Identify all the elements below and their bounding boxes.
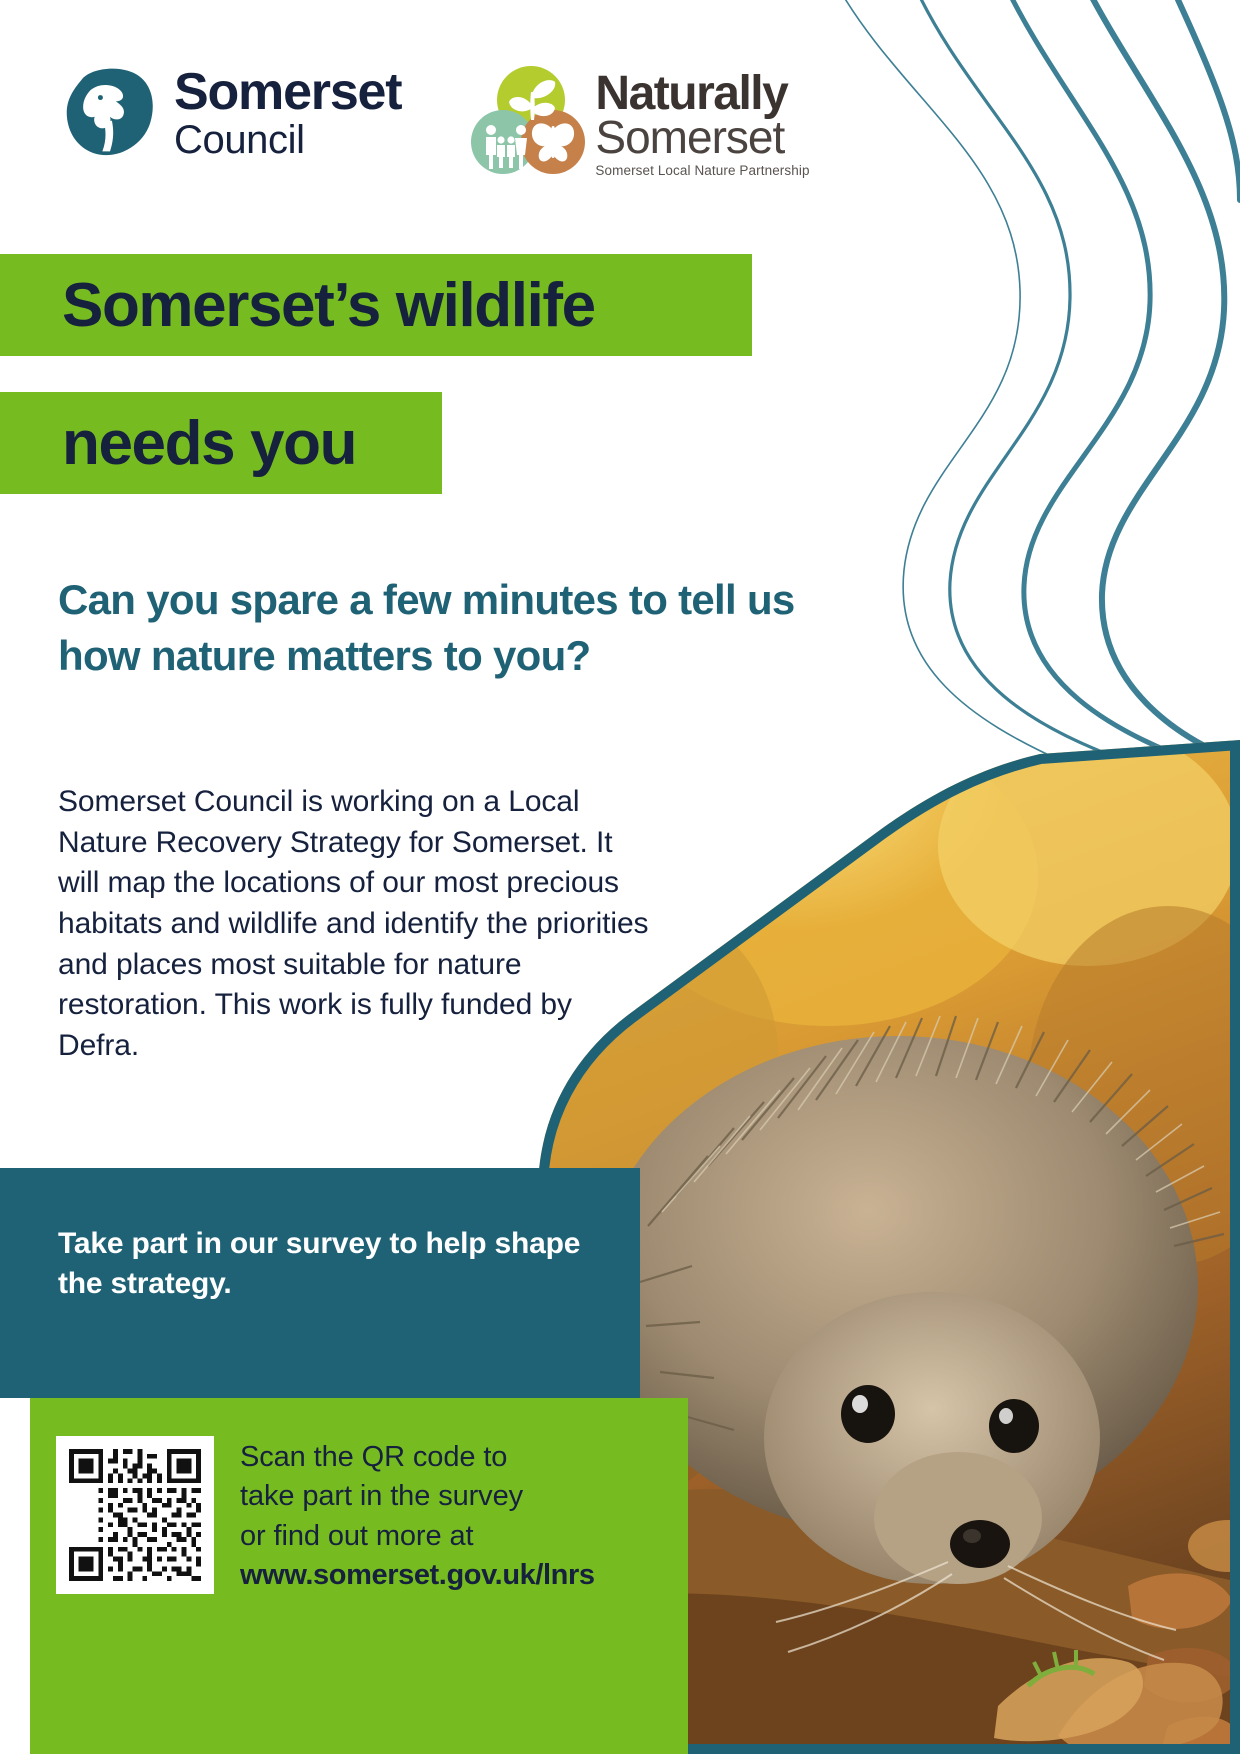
somerset-dragon-icon	[62, 63, 158, 159]
naturally-somerset-logo: Naturally Somerset Somerset Local Nature…	[469, 62, 809, 178]
headline-bar-2: needs you	[0, 392, 442, 494]
headline-line-2: needs you	[0, 408, 356, 479]
qr-instructions: Scan the QR code to take part in the sur…	[240, 1436, 595, 1596]
survey-call-to-action-band: Take part in our survey to help shape th…	[0, 1168, 640, 1398]
logo-row: Somerset Council	[62, 62, 810, 178]
headline-line-1: Somerset’s wildlife	[0, 270, 595, 341]
qr-line-2: take part in the survey	[240, 1477, 595, 1516]
body-paragraph: Somerset Council is working on a Local N…	[58, 782, 658, 1066]
headline-bar-1: Somerset’s wildlife	[0, 254, 752, 356]
contour-wave-lines-icon	[820, 0, 1240, 770]
qr-line-3: or find out more at	[240, 1517, 595, 1556]
survey-cta-text: Take part in our survey to help shape th…	[58, 1224, 598, 1303]
qr-line-1: Scan the QR code to	[240, 1438, 595, 1477]
council-logo-line1: Somerset	[174, 66, 401, 118]
survey-url[interactable]: www.somerset.gov.uk/lnrs	[240, 1556, 595, 1595]
naturally-somerset-wordmark: Naturally Somerset Somerset Local Nature…	[595, 64, 809, 178]
ns-logo-tagline: Somerset Local Nature Partnership	[595, 164, 809, 178]
ns-logo-line2: Somerset	[595, 114, 809, 160]
qr-code[interactable]	[56, 1436, 214, 1594]
council-logo-line2: Council	[174, 120, 401, 160]
somerset-council-logo: Somerset Council	[62, 62, 401, 160]
naturally-somerset-icon	[469, 64, 585, 176]
poster-root: Somerset Council	[0, 0, 1240, 1754]
subheading: Can you spare a few minutes to tell us h…	[58, 572, 818, 684]
somerset-council-wordmark: Somerset Council	[174, 62, 401, 160]
qr-band: Scan the QR code to take part in the sur…	[30, 1398, 688, 1754]
